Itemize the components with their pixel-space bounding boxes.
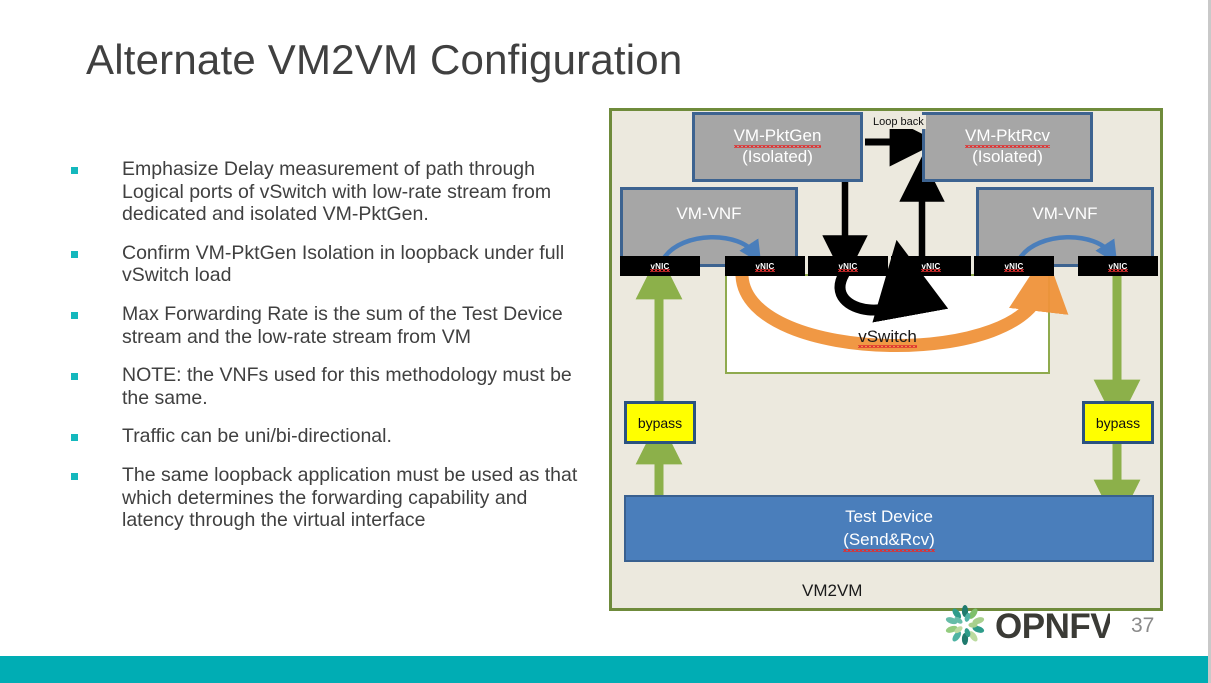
bypass-right-box[interactable]: bypass bbox=[1082, 401, 1154, 444]
list-item: NOTE: the VNFs used for this methodology… bbox=[62, 364, 592, 409]
bullet-text: Max Forwarding Rate is the sum of the Te… bbox=[122, 303, 592, 348]
slide-canvas: Alternate VM2VM Configuration Emphasize … bbox=[0, 0, 1211, 683]
opnfv-logo: OPNFV bbox=[944, 604, 1110, 646]
vm-vnf-right-box[interactable]: VM-VNF bbox=[976, 187, 1154, 267]
list-item: Emphasize Delay measurement of path thro… bbox=[62, 158, 592, 226]
vnic-box-1[interactable]: vNIC bbox=[620, 256, 700, 276]
bullet-text: Traffic can be uni/bi-directional. bbox=[122, 425, 592, 448]
vm-vnf-left-label: VM-VNF bbox=[676, 204, 741, 224]
vm2vm-frame-label: VM2VM bbox=[802, 581, 862, 601]
bullet-marker-icon bbox=[71, 167, 78, 174]
vm-pktrcv-box[interactable]: VM-PktRcv (Isolated) bbox=[922, 112, 1093, 182]
bullet-text: Confirm VM-PktGen Isolation in loopback … bbox=[122, 242, 592, 287]
page-number: 37 bbox=[1131, 614, 1154, 638]
list-item: Max Forwarding Rate is the sum of the Te… bbox=[62, 303, 592, 348]
vm-pktgen-sublabel: (Isolated) bbox=[742, 147, 813, 168]
bullet-text: Emphasize Delay measurement of path thro… bbox=[122, 158, 592, 226]
loopback-label: Loop back bbox=[871, 115, 926, 129]
vnic-box-3[interactable]: vNIC bbox=[808, 256, 888, 276]
bullet-marker-icon bbox=[71, 473, 78, 480]
list-item: Traffic can be uni/bi-directional. bbox=[62, 425, 592, 448]
vm-pktgen-label: VM-PktGen bbox=[734, 126, 822, 147]
vm-vnf-right-label: VM-VNF bbox=[1032, 204, 1097, 224]
opnfv-petal-icon bbox=[945, 605, 985, 645]
opnfv-wordmark: OPNFV bbox=[995, 607, 1110, 646]
vnic-box-6[interactable]: vNIC bbox=[1078, 256, 1158, 276]
bullet-marker-icon bbox=[71, 373, 78, 380]
test-device-box[interactable]: Test Device (Send&Rcv) bbox=[624, 495, 1154, 562]
vswitch-label: vSwitch bbox=[858, 327, 917, 347]
vm-pktrcv-label: VM-PktRcv bbox=[965, 126, 1050, 147]
vnic-box-4[interactable]: vNIC bbox=[891, 256, 971, 276]
test-device-label: Test Device bbox=[845, 506, 933, 528]
page-title: Alternate VM2VM Configuration bbox=[86, 36, 682, 84]
bullet-marker-icon bbox=[71, 434, 78, 441]
bullet-marker-icon bbox=[71, 312, 78, 319]
vnic-box-5[interactable]: vNIC bbox=[974, 256, 1054, 276]
vm-pktrcv-sublabel: (Isolated) bbox=[972, 147, 1043, 168]
bullet-list: Emphasize Delay measurement of path thro… bbox=[62, 158, 592, 548]
bullet-marker-icon bbox=[71, 251, 78, 258]
vm-pktgen-box[interactable]: VM-PktGen (Isolated) bbox=[692, 112, 863, 182]
vm-vnf-left-box[interactable]: VM-VNF bbox=[620, 187, 798, 267]
vswitch-box: vSwitch bbox=[725, 274, 1050, 374]
vm2vm-architecture-diagram: vSwitch VM-PktGen (Isolated) VM-PktRcv (… bbox=[609, 108, 1163, 611]
bypass-right-label: bypass bbox=[1096, 415, 1140, 431]
bullet-text: NOTE: the VNFs used for this methodology… bbox=[122, 364, 592, 409]
test-device-sublabel: (Send&Rcv) bbox=[843, 529, 935, 551]
bypass-left-label: bypass bbox=[638, 415, 682, 431]
vnic-box-2[interactable]: vNIC bbox=[725, 256, 805, 276]
footer-accent-bar bbox=[0, 656, 1208, 683]
list-item: The same loopback application must be us… bbox=[62, 464, 592, 532]
list-item: Confirm VM-PktGen Isolation in loopback … bbox=[62, 242, 592, 287]
bypass-left-box[interactable]: bypass bbox=[624, 401, 696, 444]
bullet-text: The same loopback application must be us… bbox=[122, 464, 592, 532]
